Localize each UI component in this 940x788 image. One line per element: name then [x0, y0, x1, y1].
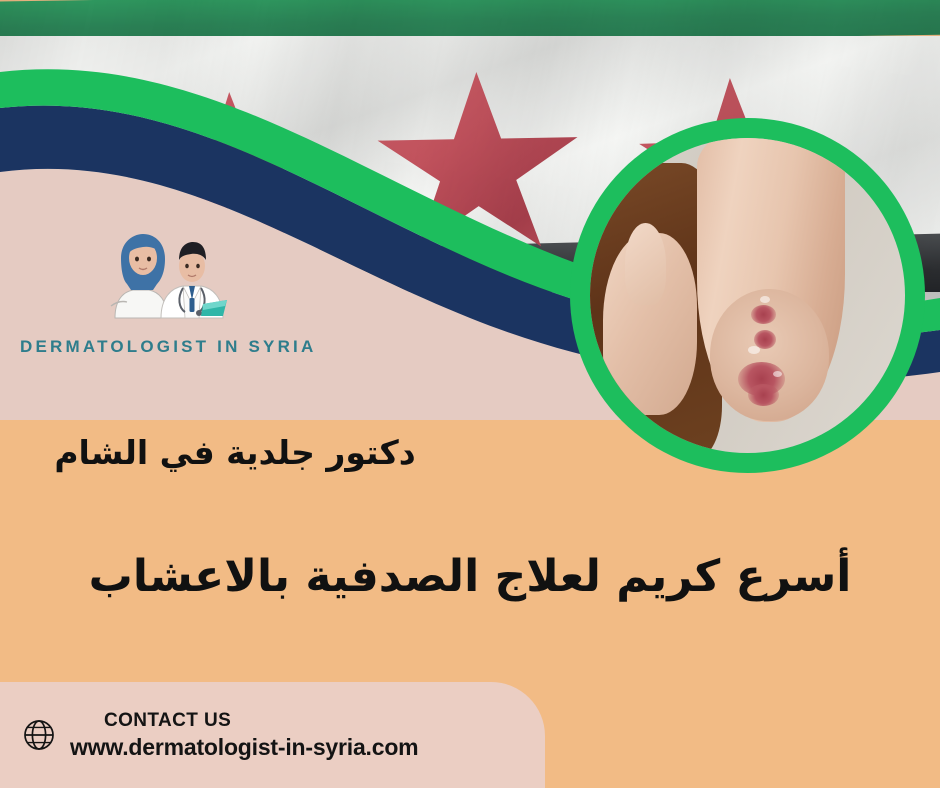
contact-us-label: CONTACT US	[70, 710, 418, 732]
headline-primary: دكتور جلدية في الشام	[0, 432, 470, 475]
globe-icon	[22, 718, 56, 752]
skin-scale-fleck	[760, 296, 770, 303]
psoriasis-elbow-photo	[570, 118, 925, 473]
female-doctor-figure	[111, 234, 167, 318]
skin-scale-fleck	[748, 346, 760, 354]
photo-inner-frame	[590, 138, 905, 453]
poster-canvas: DERMATOLOGIST IN SYRIA دكتور جلدية في ال…	[0, 0, 940, 788]
website-url[interactable]: www.dermatologist-in-syria.com	[70, 734, 418, 761]
contact-row: CONTACT US www.dermatologist-in-syria.co…	[0, 682, 545, 788]
contact-text-group: CONTACT US www.dermatologist-in-syria.co…	[70, 710, 418, 761]
contact-footer-panel: CONTACT US www.dermatologist-in-syria.co…	[0, 682, 545, 788]
psoriasis-lesion	[751, 305, 776, 324]
male-doctor-figure	[161, 242, 227, 318]
photo-thumb-up	[625, 223, 666, 305]
brand-logo: DERMATOLOGIST IN SYRIA	[20, 218, 290, 357]
two-doctors-illustration	[75, 218, 235, 328]
skin-scale-fleck	[773, 371, 782, 377]
logo-title: DERMATOLOGIST IN SYRIA	[20, 337, 290, 357]
headline-secondary: أسرع كريم لعلاج الصدفية بالاعشاب	[0, 548, 940, 605]
psoriasis-lesion	[748, 384, 780, 406]
